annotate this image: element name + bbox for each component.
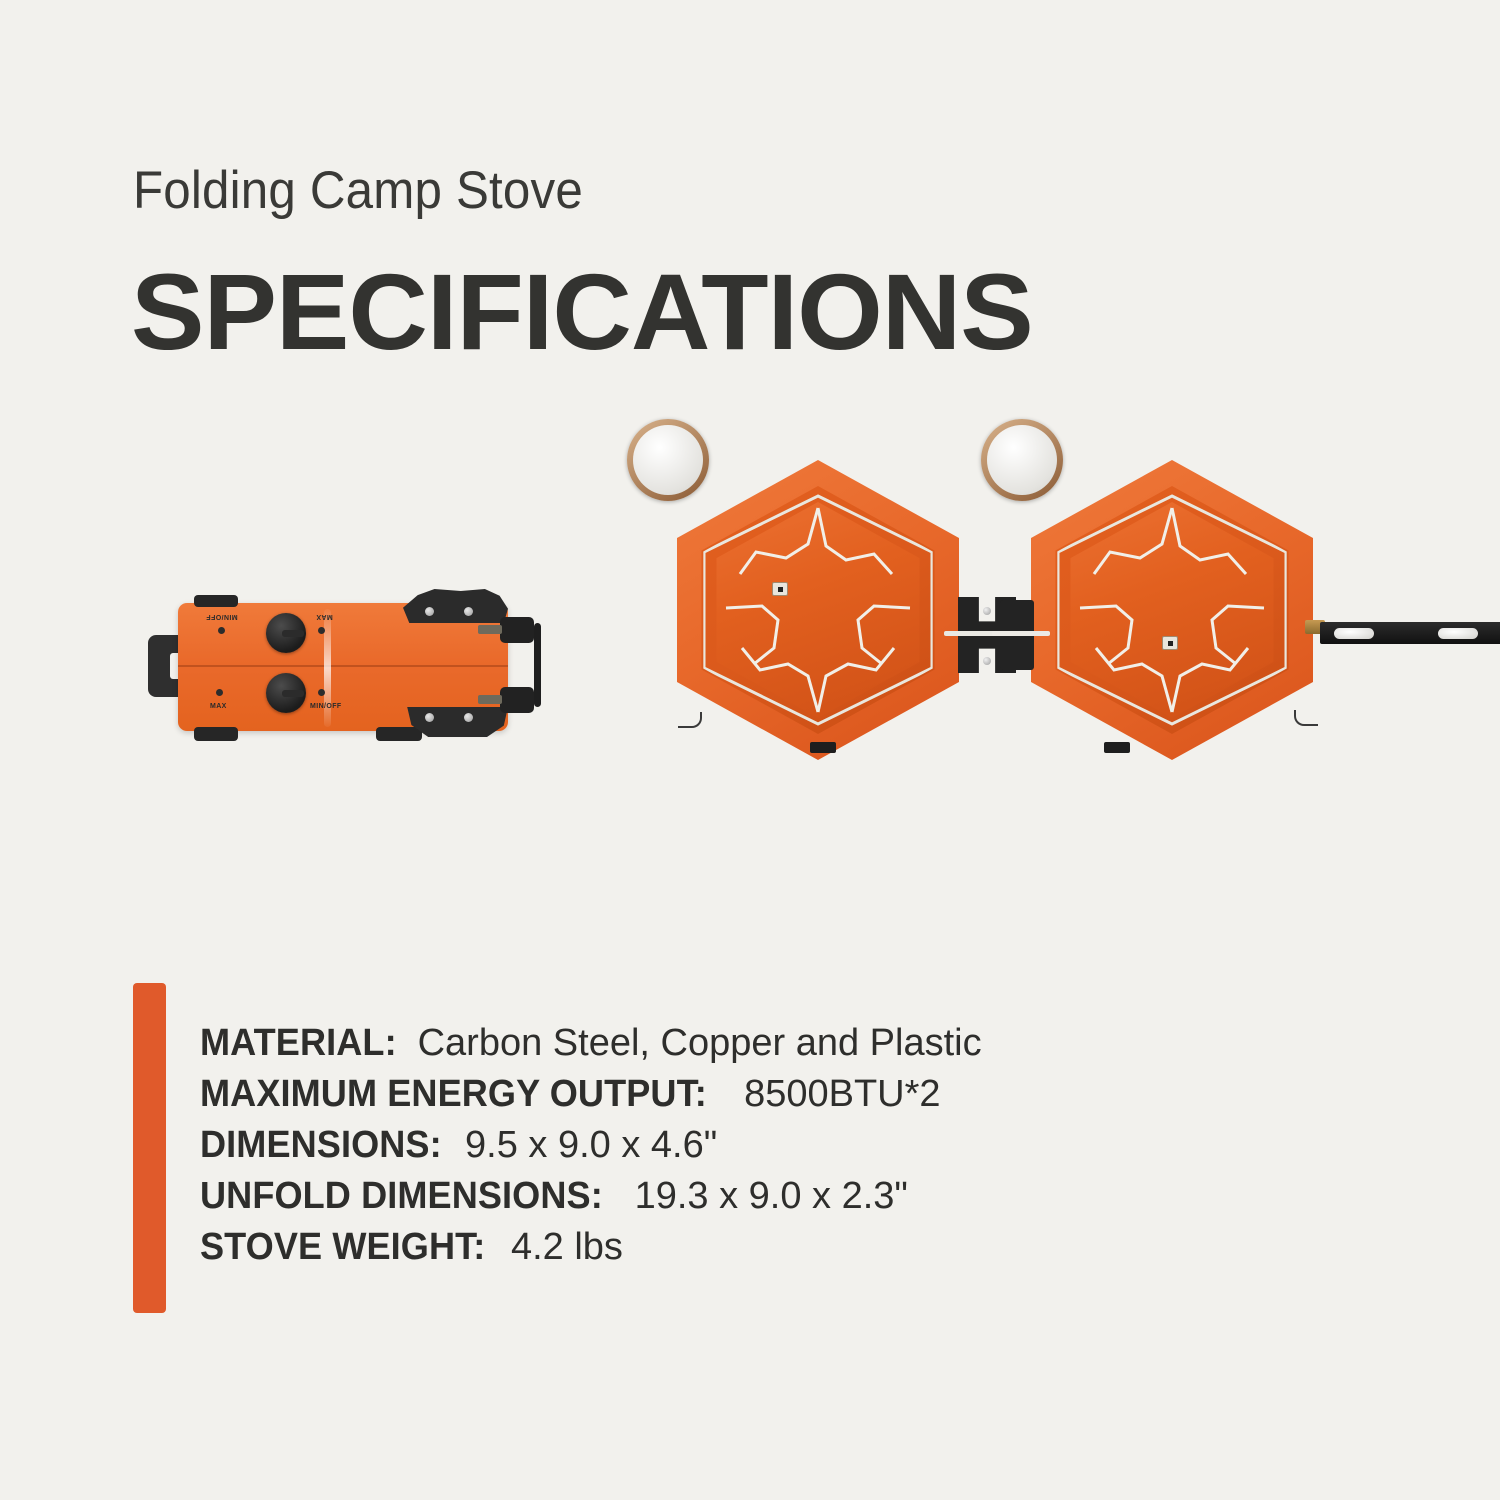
control-dot-min-bottom xyxy=(318,689,325,696)
side-bracket-pin xyxy=(992,631,1050,636)
spec-value: 9.5 x 9.0 x 4.6" xyxy=(465,1124,717,1166)
stove-foot-top-left xyxy=(194,595,238,607)
spec-value: 8500BTU*2 xyxy=(744,1073,940,1115)
igniter-left xyxy=(772,582,788,596)
spec-row: DIMENSIONS: 9.5 x 9.0 x 4.6" xyxy=(200,1120,1350,1171)
bracket-screw-1 xyxy=(425,607,434,616)
bracket-screw-2 xyxy=(464,607,473,616)
gas-wire-left xyxy=(678,712,702,728)
control-dot-min-top xyxy=(218,627,225,634)
spec-row: MAXIMUM ENERGY OUTPUT: 8500BTU*2 xyxy=(200,1069,1350,1120)
product-subtitle: Folding Camp Stove xyxy=(133,160,583,221)
spec-row: UNFOLD DIMENSIONS: 19.3 x 9.0 x 2.3" xyxy=(200,1171,1350,1222)
control-label-max-top: MAX xyxy=(316,613,333,620)
spec-label: MATERIAL: xyxy=(200,1018,397,1069)
igniter-right xyxy=(1162,636,1178,650)
spec-row: STOVE WEIGHT: 4.2 lbs xyxy=(200,1222,1350,1273)
product-photo: MIN/OFF MAX MAX MIN/OFF xyxy=(0,450,1500,870)
extension-arm xyxy=(1320,622,1500,644)
hex-tab-right xyxy=(1104,742,1130,753)
spec-value: Carbon Steel, Copper and Plastic xyxy=(418,1022,982,1064)
arm-hole-2 xyxy=(1438,628,1478,639)
control-label-min-off-bottom: MIN/OFF xyxy=(310,703,342,710)
stove-bracket-top xyxy=(403,589,508,623)
control-dot-max-top xyxy=(318,627,325,634)
spec-label: UNFOLD DIMENSIONS: xyxy=(200,1171,603,1222)
latch-clip-top xyxy=(500,617,534,643)
spec-label: STOVE WEIGHT: xyxy=(200,1222,485,1273)
hinge-screw-bottom xyxy=(983,657,991,665)
control-label-max-bottom: MAX xyxy=(210,703,227,710)
hex-tab-left xyxy=(810,742,836,753)
folded-stove-illustration: MIN/OFF MAX MAX MIN/OFF xyxy=(148,595,538,740)
latch-strap xyxy=(534,623,541,707)
page-title: SPECIFICATIONS xyxy=(131,258,1033,366)
control-label-min-off-top: MIN/OFF xyxy=(206,613,238,620)
burner-knob-top xyxy=(266,613,306,653)
control-dot-max-bottom xyxy=(216,689,223,696)
hinge-screw-top xyxy=(983,607,991,615)
accent-bar xyxy=(133,983,166,1313)
burner-ring-right xyxy=(981,419,1063,501)
burner-knob-bottom xyxy=(266,673,306,713)
spec-label: MAXIMUM ENERGY OUTPUT: xyxy=(200,1069,707,1120)
burner-cap-left xyxy=(633,425,703,495)
spec-value: 19.3 x 9.0 x 2.3" xyxy=(635,1175,908,1217)
burner-cap-right xyxy=(987,425,1057,495)
burner-ring-left xyxy=(627,419,709,501)
latch-clip-bottom xyxy=(500,687,534,713)
bracket-screw-4 xyxy=(464,713,473,722)
gas-wire-right xyxy=(1294,710,1318,726)
arm-hole-1 xyxy=(1334,628,1374,639)
bracket-screw-3 xyxy=(425,713,434,722)
spec-value: 4.2 lbs xyxy=(511,1226,623,1268)
stove-foot-bottom-mid xyxy=(376,727,422,741)
spec-label: DIMENSIONS: xyxy=(200,1120,442,1171)
spec-row: MATERIAL: Carbon Steel, Copper and Plast… xyxy=(200,1018,1350,1069)
stove-seam xyxy=(178,665,508,667)
stove-foot-bottom-left xyxy=(194,727,238,741)
specifications-list: MATERIAL: Carbon Steel, Copper and Plast… xyxy=(200,1018,1350,1273)
